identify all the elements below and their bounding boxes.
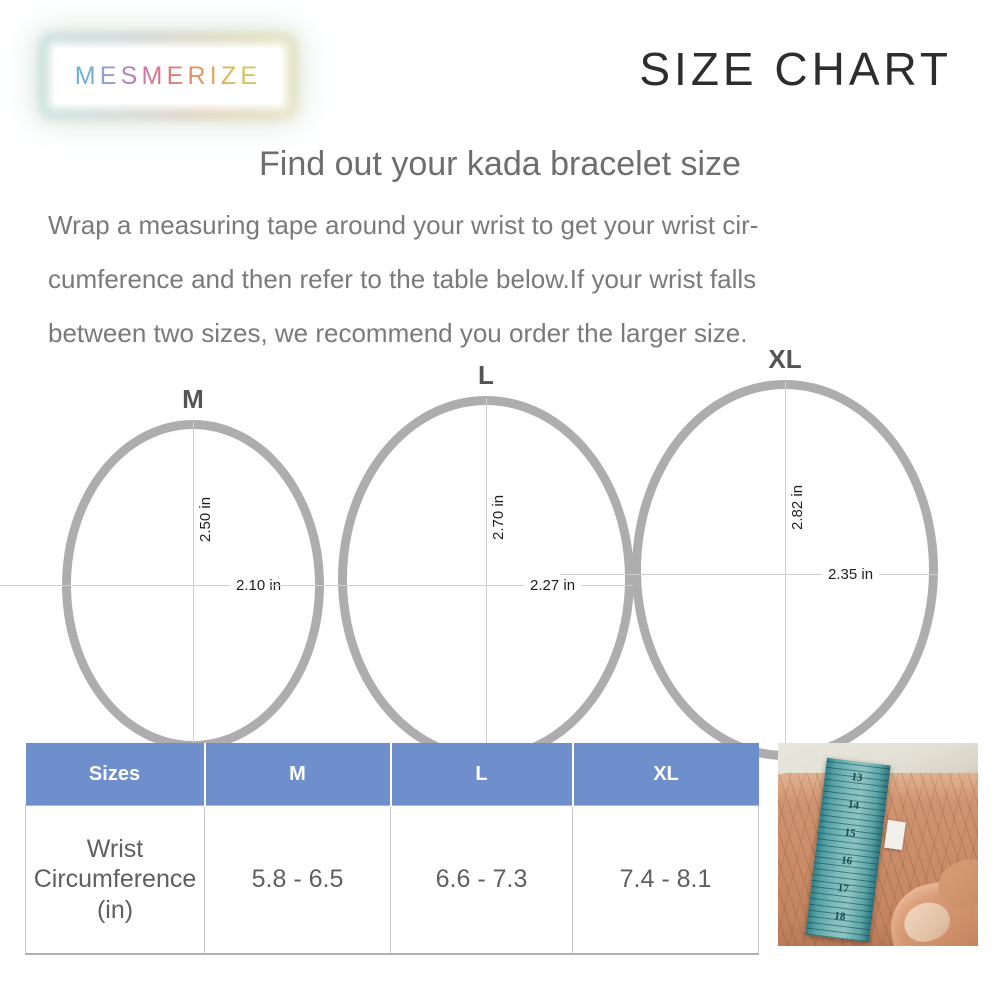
bracelet-diagram-xl: XL 2.82 in 2.35 in [632, 352, 938, 732]
size-table: Sizes M L XL Wrist Circumference (in) 5.… [25, 743, 759, 955]
table-header-xl: XL [573, 743, 759, 806]
bracelet-height-label-l: 2.70 in [490, 495, 507, 540]
table-header-m: M [205, 743, 391, 806]
table-header-row: Sizes M L XL [26, 743, 759, 806]
page-title: SIZE CHART [639, 42, 952, 96]
cell-wrist-circumference-m: 5.8 - 6.5 [205, 806, 391, 955]
bracelet-height-label-m: 2.50 in [197, 497, 214, 542]
bracelet-horizontal-axis-xl [560, 574, 938, 575]
size-chart-page: MESMERIZE SIZE CHART Find out your kada … [0, 0, 1000, 1000]
intro-paragraph: Wrap a measuring tape around your wrist … [48, 198, 952, 360]
bracelet-diagrams: M 2.50 in 2.10 in L 2.70 in 2.27 in XL 2… [0, 350, 1000, 740]
photo-tape-clip [884, 820, 906, 850]
bracelet-vertical-axis-xl [785, 382, 786, 758]
wrist-measurement-photo: 13 14 15 16 17 18 [778, 743, 978, 946]
table-header-l: L [391, 743, 573, 806]
bracelet-diagram-m: M 2.50 in 2.10 in [62, 392, 324, 722]
headline: Find out your kada bracelet size [0, 145, 1000, 184]
brand-wordmark: MESMERIZE [75, 62, 261, 91]
bracelet-size-label-m: M [182, 386, 204, 412]
bracelet-width-label-xl: 2.35 in [822, 566, 879, 583]
intro-line-2: cumference and then refer to the table b… [48, 252, 952, 306]
table-row: Wrist Circumference (in) 5.8 - 6.5 6.6 -… [26, 806, 759, 955]
brand-logo: MESMERIZE [54, 48, 282, 104]
bracelet-vertical-axis-l [486, 398, 487, 760]
table-header-sizes: Sizes [26, 743, 205, 806]
bracelet-width-label-l: 2.27 in [524, 577, 581, 594]
row-label-wrist-circumference: Wrist Circumference (in) [26, 806, 205, 955]
cell-wrist-circumference-xl: 7.4 - 8.1 [573, 806, 759, 955]
bracelet-size-label-l: L [478, 362, 494, 388]
cell-wrist-circumference-l: 6.6 - 7.3 [391, 806, 573, 955]
bracelet-size-label-xl: XL [768, 346, 801, 372]
bracelet-height-label-xl: 2.82 in [789, 485, 806, 530]
intro-line-1: Wrap a measuring tape around your wrist … [48, 198, 952, 252]
bracelet-diagram-l: L 2.70 in 2.27 in [338, 368, 634, 734]
